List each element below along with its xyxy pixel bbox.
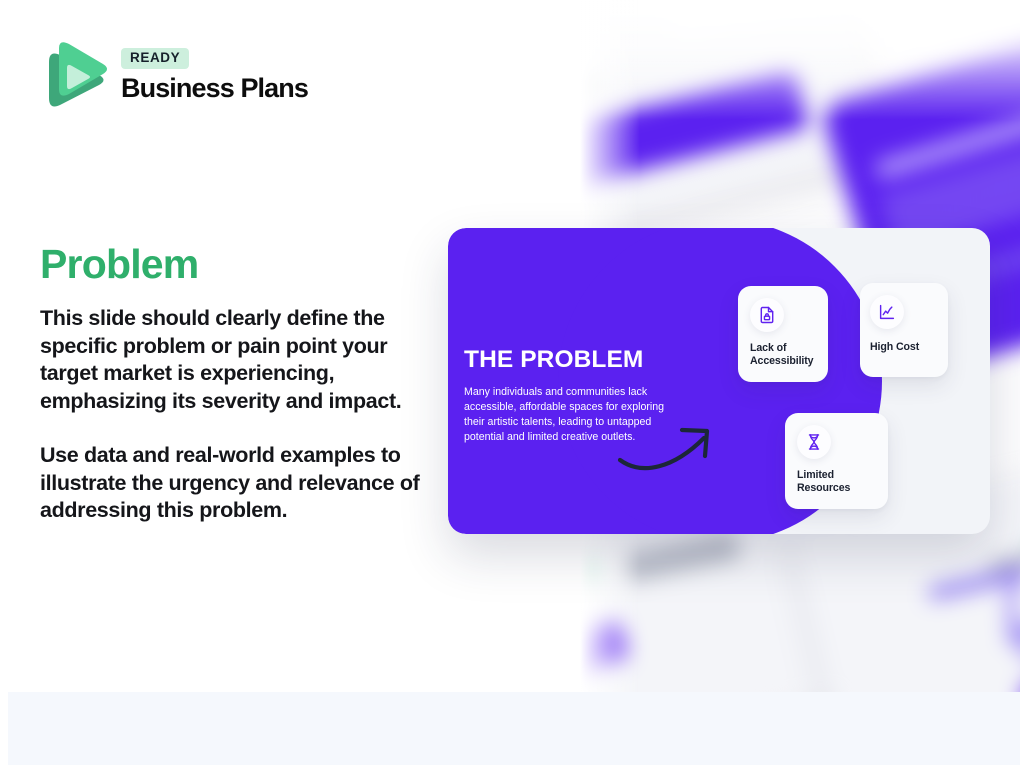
chart-line-icon bbox=[870, 295, 904, 329]
feature-tile-label: Limited Resources bbox=[797, 469, 877, 495]
body-paragraph-2: Use data and real-world examples to illu… bbox=[40, 442, 430, 525]
body-paragraph-1: This slide should clearly define the spe… bbox=[40, 305, 430, 415]
ready-badge: READY bbox=[121, 48, 189, 69]
brand-text: READY Business Plans bbox=[121, 48, 308, 102]
play-triangle-logo-icon bbox=[41, 38, 107, 112]
curved-arrow-up-right-icon bbox=[616, 418, 736, 485]
slide-preview-card[interactable]: THE PROBLEM Many individuals and communi… bbox=[448, 228, 990, 534]
backdrop-text-block bbox=[623, 531, 741, 582]
slide-preview-title: THE PROBLEM bbox=[464, 348, 692, 373]
page-title: Problem bbox=[40, 242, 198, 287]
document-lock-icon bbox=[750, 298, 784, 332]
feature-tile-lack-of-accessibility[interactable]: Lack of Accessibility bbox=[738, 286, 828, 382]
brand-title: Business Plans bbox=[121, 74, 308, 102]
brand-lockup: READY Business Plans bbox=[41, 38, 308, 112]
backdrop-top-fade bbox=[580, 0, 1020, 120]
hourglass-icon bbox=[797, 425, 831, 459]
feature-tile-label: Lack of Accessibility bbox=[750, 342, 824, 368]
body-copy: This slide should clearly define the spe… bbox=[40, 305, 430, 525]
bottom-strip bbox=[0, 692, 1020, 765]
backdrop-legend-bar bbox=[927, 565, 1020, 601]
bottom-strip-left-notch bbox=[0, 692, 8, 765]
feature-tile-label: High Cost bbox=[870, 341, 946, 354]
feature-tile-limited-resources[interactable]: Limited Resources bbox=[785, 413, 888, 509]
backdrop-donut-chart bbox=[991, 511, 1020, 692]
slide-template-preview-page: READY Business Plans Problem This slide … bbox=[0, 0, 1020, 765]
feature-tile-high-cost[interactable]: High Cost bbox=[860, 283, 948, 377]
